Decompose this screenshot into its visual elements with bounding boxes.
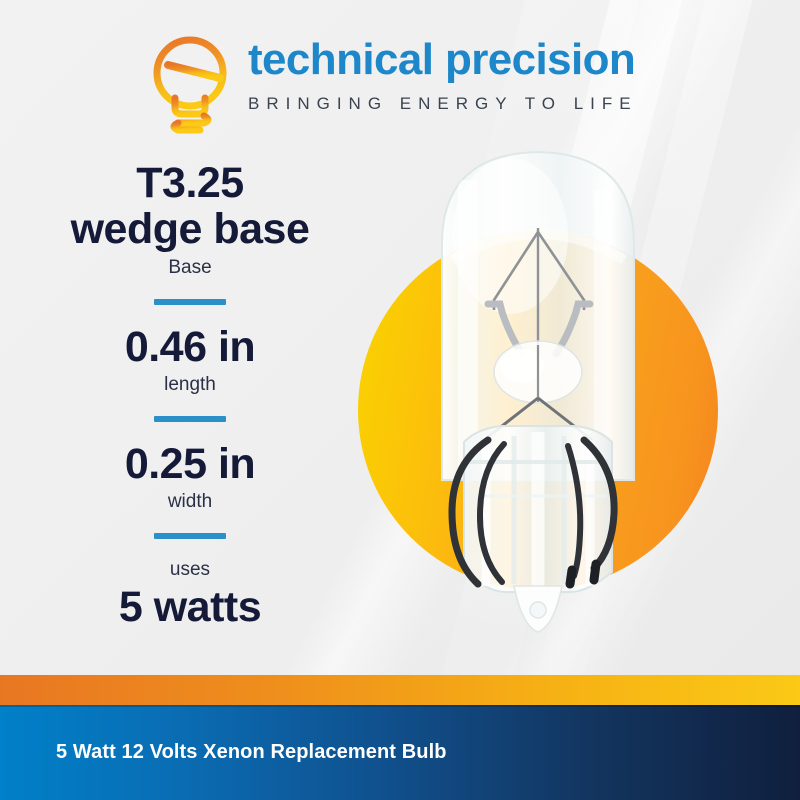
spec-label: uses [40, 558, 340, 582]
spec-list: T3.25 wedge base Base 0.46 in length 0.2… [40, 160, 340, 630]
spec-divider [154, 299, 226, 305]
spec-item-length: 0.46 in length [40, 324, 340, 397]
spec-value: 0.25 in [40, 441, 340, 487]
spec-item-wattage: uses 5 watts [40, 558, 340, 630]
spec-value: 0.46 in [40, 324, 340, 370]
banner-caption: 5 Watt 12 Volts Xenon Replacement Bulb [56, 741, 447, 764]
spec-divider [154, 533, 226, 539]
banner-seam [0, 705, 800, 707]
brand-tagline: BRINGING ENERGY TO LIFE [248, 95, 638, 112]
spec-label: Base [40, 256, 340, 280]
spec-item-width: 0.25 in width [40, 441, 340, 514]
product-photo-bulb [418, 140, 658, 650]
spec-value-line1: T3.25 [136, 159, 243, 207]
brand-logo: technical precision BRINGING ENERGY TO L… [142, 32, 638, 136]
bottom-banner: 5 Watt 12 Volts Xenon Replacement Bulb [0, 675, 800, 800]
product-infographic: technical precision BRINGING ENERGY TO L… [0, 0, 800, 800]
banner-accent-strip [0, 675, 800, 705]
spec-label: width [40, 490, 340, 514]
spec-divider [154, 416, 226, 422]
lightbulb-t-icon [142, 32, 238, 136]
spec-value: 5 watts [40, 584, 340, 630]
spec-value-line2: wedge base [71, 205, 310, 253]
spec-value: T3.25 wedge base [40, 160, 340, 253]
brand-logo-text: technical precision BRINGING ENERGY TO L… [248, 38, 638, 112]
banner-body: 5 Watt 12 Volts Xenon Replacement Bulb [0, 705, 800, 800]
spec-label: length [40, 373, 340, 397]
spec-item-base: T3.25 wedge base Base [40, 160, 340, 280]
brand-name: technical precision [248, 38, 638, 82]
